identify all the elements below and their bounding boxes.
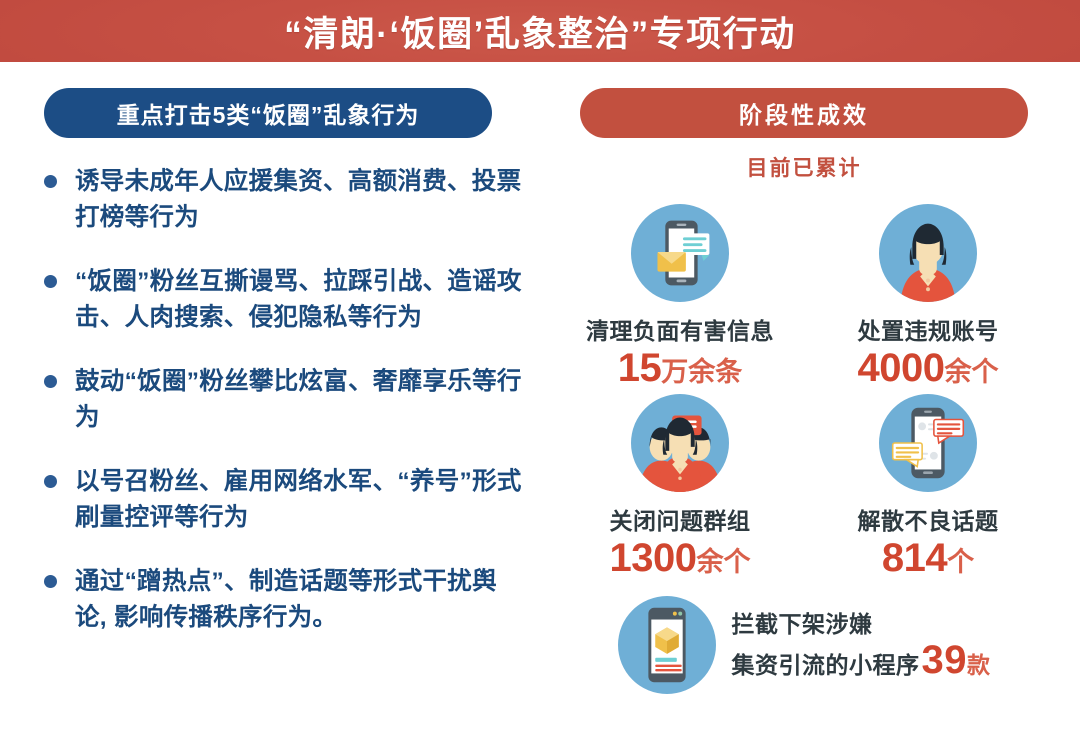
- phone-miniprogram-icon: [618, 596, 716, 694]
- phone-message-icon: [631, 204, 729, 302]
- user-avatar-icon: [879, 204, 977, 302]
- left-panel: 重点打击5类“饭圈”乱象行为 诱导未成年人应援集资、高额消费、投票打榜等行为 “…: [0, 88, 546, 753]
- bullet-dot-icon: [44, 575, 57, 588]
- stat-cell: 处置违规账号 4000余个: [804, 204, 1052, 388]
- stat-number: 15: [618, 346, 662, 390]
- stat-label: 处置违规账号: [858, 312, 999, 346]
- list-item: 诱导未成年人应援集资、高额消费、投票打榜等行为: [44, 164, 526, 236]
- list-item-text: 以号召粉丝、雇用网络水军、“养号”形式刷量控评等行为: [75, 464, 526, 536]
- page-title: “清朗·‘饭圈’乱象整治”专项行动: [284, 6, 796, 57]
- main-content: 重点打击5类“饭圈”乱象行为 诱导未成年人应援集资、高额消费、投票打榜等行为 “…: [0, 62, 1080, 753]
- statistics-grid: 清理负面有害信息 15万余条: [556, 204, 1052, 578]
- stat-cell: 关闭问题群组 1300余个: [556, 394, 804, 578]
- wide-stat: 拦截下架涉嫌 集资引流的小程序 39 款: [556, 596, 1052, 694]
- stat-value: 1300余个: [610, 538, 751, 578]
- stat-number: 1300: [610, 536, 697, 580]
- violation-list: 诱导未成年人应援集资、高额消费、投票打榜等行为 “饭圈”粉丝互撕谩骂、拉踩引战、…: [44, 164, 526, 636]
- stat-unit: 余个: [696, 547, 750, 577]
- list-item: “饭圈”粉丝互撕谩骂、拉踩引战、造谣攻击、人肉搜索、侵犯隐私等行为: [44, 264, 526, 336]
- stat-label: 清理负面有害信息: [586, 312, 774, 346]
- wide-stat-text: 拦截下架涉嫌 集资引流的小程序 39 款: [732, 609, 991, 681]
- list-item-text: “饭圈”粉丝互撕谩骂、拉踩引战、造谣攻击、人肉搜索、侵犯隐私等行为: [75, 264, 526, 336]
- right-panel-subtitle: 目前已累计: [556, 152, 1052, 182]
- list-item: 通过“蹭热点”、制造话题等形式干扰舆论, 影响传播秩序行为。: [44, 564, 526, 636]
- list-item-text: 诱导未成年人应援集资、高额消费、投票打榜等行为: [75, 164, 526, 236]
- stat-unit: 万余条: [661, 357, 742, 387]
- right-panel-heading-label: 阶段性成效: [739, 96, 869, 130]
- list-item-text: 鼓动“饭圈”粉丝攀比炫富、奢靡享乐等行为: [75, 364, 526, 436]
- stat-cell: 清理负面有害信息 15万余条: [556, 204, 804, 388]
- stat-label: 关闭问题群组: [610, 502, 751, 536]
- bullet-dot-icon: [44, 275, 57, 288]
- page-banner: “清朗·‘饭圈’乱象整治”专项行动: [0, 0, 1080, 62]
- bullet-dot-icon: [44, 175, 57, 188]
- right-panel-heading: 阶段性成效: [580, 88, 1028, 138]
- wide-stat-line2-row: 集资引流的小程序 39 款: [732, 640, 991, 681]
- stat-cell: 解散不良话题 814个: [804, 394, 1052, 578]
- wide-stat-unit: 款: [967, 650, 991, 681]
- right-panel: 阶段性成效 目前已累计: [546, 88, 1080, 753]
- left-panel-heading-label: 重点打击5类“饭圈”乱象行为: [117, 96, 420, 130]
- stat-value: 4000余个: [858, 348, 999, 388]
- wide-stat-line2: 集资引流的小程序: [732, 650, 920, 681]
- stat-value: 15万余条: [618, 348, 743, 388]
- phone-chat-bubbles-icon: [879, 394, 977, 492]
- stat-unit: 余个: [944, 357, 998, 387]
- list-item-text: 通过“蹭热点”、制造话题等形式干扰舆论, 影响传播秩序行为。: [75, 564, 526, 636]
- wide-stat-number: 39: [922, 640, 968, 680]
- stat-value: 814个: [882, 538, 974, 578]
- stat-unit: 个: [947, 547, 974, 577]
- user-group-chat-icon: [631, 394, 729, 492]
- left-panel-heading: 重点打击5类“饭圈”乱象行为: [44, 88, 492, 138]
- stat-number: 4000: [858, 346, 945, 390]
- list-item: 鼓动“饭圈”粉丝攀比炫富、奢靡享乐等行为: [44, 364, 526, 436]
- stat-number: 814: [882, 536, 947, 580]
- stat-label: 解散不良话题: [858, 502, 999, 536]
- bullet-dot-icon: [44, 375, 57, 388]
- wide-stat-line1: 拦截下架涉嫌: [732, 609, 991, 640]
- list-item: 以号召粉丝、雇用网络水军、“养号”形式刷量控评等行为: [44, 464, 526, 536]
- bullet-dot-icon: [44, 475, 57, 488]
